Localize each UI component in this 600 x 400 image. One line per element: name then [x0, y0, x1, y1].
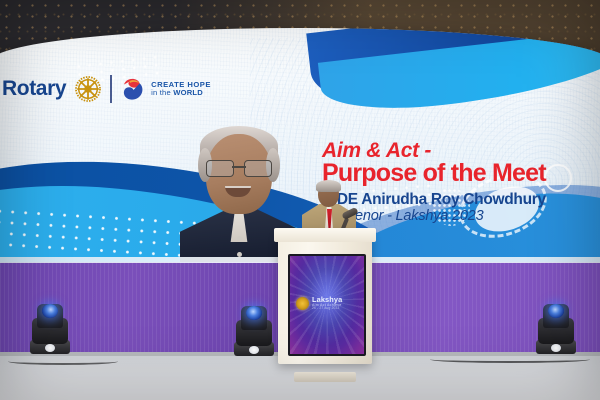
- moving-head-stage-light-left: [232, 302, 276, 356]
- headline-line1: Aim & Act -: [322, 140, 572, 161]
- stage-cable: [8, 358, 118, 365]
- screenshot-root: Rotary: [0, 0, 600, 400]
- rotary-emblem-icon: [296, 297, 309, 310]
- podium: Lakshya Aim Act Achieve 26 - 27 Aug 2023: [272, 232, 378, 380]
- moving-head-stage-light-right: [534, 300, 578, 354]
- podium-base: [294, 372, 356, 382]
- speaker-name-line: RIDE Anirudha Roy Chowdhury: [322, 192, 572, 208]
- screen-text-block: Aim & Act - Purpose of the Meet RIDE Ani…: [322, 140, 572, 224]
- speaker-hair: [316, 180, 341, 192]
- podium-top-surface: [274, 228, 376, 242]
- podium-brand-date: 26 - 27 Aug 2023: [312, 307, 342, 310]
- rotary-wheel-icon: [73, 74, 103, 104]
- create-hope-swirl-icon: [119, 75, 147, 103]
- create-hope-text: CREATE HOPE in the WORLD: [151, 81, 211, 96]
- speaker-role-line: Convenor - Lakshya 2023: [322, 209, 572, 224]
- rotary-wordmark: Rotary: [2, 77, 66, 101]
- moving-head-stage-light-far-left: [28, 300, 72, 354]
- rotary-logo-lockup: Rotary: [2, 74, 211, 104]
- podium-display-screen: Lakshya Aim Act Achieve 26 - 27 Aug 2023: [288, 254, 366, 356]
- podium-brand-text: Lakshya Aim Act Achieve 26 - 27 Aug 2023: [312, 296, 342, 311]
- create-hope-lockup: CREATE HOPE in the WORLD: [119, 75, 211, 103]
- stage-cable: [430, 356, 590, 363]
- logo-divider: [110, 75, 112, 103]
- headline-line2: Purpose of the Meet: [322, 160, 572, 186]
- create-hope-line2: in the WORLD: [151, 89, 211, 97]
- portrait-eyeglasses-icon: [206, 160, 272, 175]
- portrait-button: [237, 236, 242, 241]
- podium-brand-lockup: Lakshya Aim Act Achieve 26 - 27 Aug 2023: [296, 296, 360, 311]
